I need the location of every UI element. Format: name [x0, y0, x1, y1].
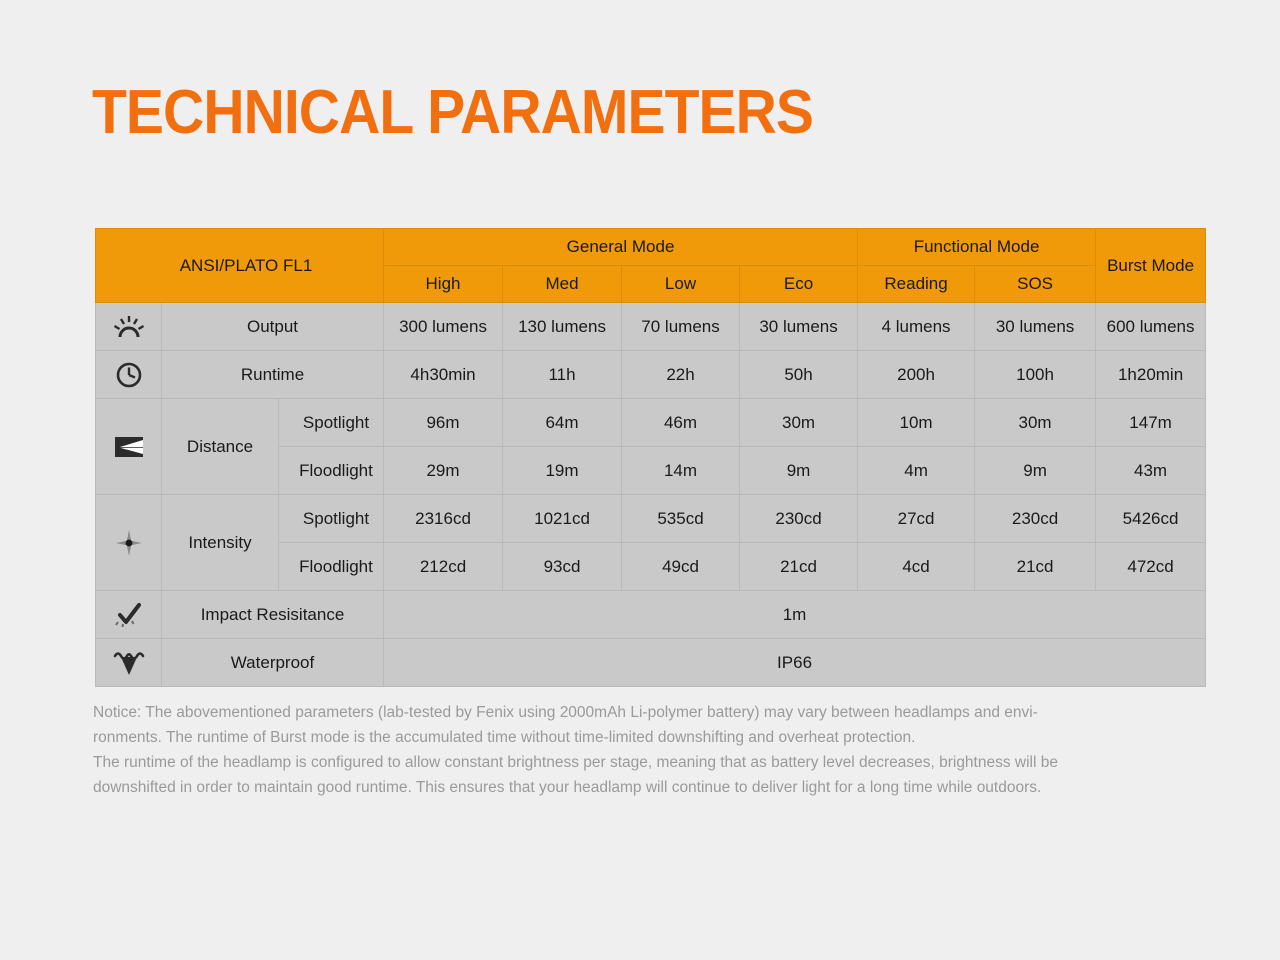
cell-distance-floodlight-reading: 4m — [858, 447, 975, 495]
cell-distance-floodlight-high: 29m — [384, 447, 503, 495]
sublabel-distance-spotlight: Spotlight — [279, 399, 384, 447]
cell-intensity-floodlight-low: 49cd — [622, 543, 740, 591]
row-label-impact-resistance: Impact Resisitance — [162, 591, 384, 639]
cell-runtime-low: 22h — [622, 351, 740, 399]
row-label-waterproof: Waterproof — [162, 639, 384, 687]
page-title: TECHNICAL PARAMETERS — [92, 82, 813, 144]
cell-runtime-burst: 1h20min — [1096, 351, 1206, 399]
cell-output-high: 300 lumens — [384, 303, 503, 351]
sublabel-distance-floodlight: Floodlight — [279, 447, 384, 495]
notice-line-3: The runtime of the headlamp is configure… — [93, 750, 1190, 775]
waterdrop-icon-cell — [96, 639, 162, 687]
cell-intensity-spotlight-burst: 5426cd — [1096, 495, 1206, 543]
sun-rays-icon — [96, 315, 161, 339]
cell-distance-spotlight-reading: 10m — [858, 399, 975, 447]
cell-output-med: 130 lumens — [503, 303, 622, 351]
cell-distance-floodlight-burst: 43m — [1096, 447, 1206, 495]
impact-check-icon-cell — [96, 591, 162, 639]
notice-line-4: downshifted in order to maintain good ru… — [93, 775, 1190, 800]
table-header-row-groups: ANSI/PLATO FL1 General Mode Functional M… — [96, 229, 1206, 266]
cell-impact-resistance-value: 1m — [384, 591, 1206, 639]
notice-line-1: Notice: The abovementioned parameters (l… — [93, 700, 1190, 725]
header-group-functional-mode: Functional Mode — [858, 229, 1096, 266]
table-row-waterproof: Waterproof IP66 — [96, 639, 1206, 687]
star-intensity-icon-cell — [96, 495, 162, 591]
table-row-output: Output 300 lumens 130 lumens 70 lumens 3… — [96, 303, 1206, 351]
table-row-distance-spotlight: Distance Spotlight 96m 64m 46m 30m 10m 3… — [96, 399, 1206, 447]
cell-intensity-floodlight-sos: 21cd — [975, 543, 1096, 591]
technical-parameters-page: TECHNICAL PARAMETERS ANSI/PLATO FL1 Gene… — [0, 0, 1280, 960]
cell-distance-floodlight-low: 14m — [622, 447, 740, 495]
table-row-impact-resistance: Impact Resisitance 1m — [96, 591, 1206, 639]
beam-distance-icon-cell — [96, 399, 162, 495]
specifications-table-container: ANSI/PLATO FL1 General Mode Functional M… — [95, 228, 1189, 687]
cell-output-eco: 30 lumens — [740, 303, 858, 351]
notice-block: Notice: The abovementioned parameters (l… — [93, 700, 1190, 800]
cell-runtime-sos: 100h — [975, 351, 1096, 399]
cell-distance-spotlight-burst: 147m — [1096, 399, 1206, 447]
waterdrop-icon — [96, 649, 161, 677]
star-intensity-icon — [96, 528, 161, 558]
cell-intensity-floodlight-reading: 4cd — [858, 543, 975, 591]
cell-intensity-spotlight-eco: 230cd — [740, 495, 858, 543]
cell-runtime-reading: 200h — [858, 351, 975, 399]
header-column-med: Med — [503, 266, 622, 303]
header-ansi-plato-label: ANSI/PLATO FL1 — [96, 229, 384, 303]
cell-distance-spotlight-med: 64m — [503, 399, 622, 447]
row-label-output: Output — [162, 303, 384, 351]
header-column-sos: SOS — [975, 266, 1096, 303]
cell-distance-floodlight-sos: 9m — [975, 447, 1096, 495]
cell-distance-spotlight-sos: 30m — [975, 399, 1096, 447]
row-label-distance: Distance — [162, 399, 279, 495]
impact-check-icon — [96, 602, 161, 628]
sublabel-intensity-floodlight: Floodlight — [279, 543, 384, 591]
cell-intensity-spotlight-reading: 27cd — [858, 495, 975, 543]
cell-distance-floodlight-eco: 9m — [740, 447, 858, 495]
cell-intensity-floodlight-burst: 472cd — [1096, 543, 1206, 591]
cell-distance-spotlight-eco: 30m — [740, 399, 858, 447]
notice-line-2: ronments. The runtime of Burst mode is t… — [93, 725, 1190, 750]
cell-runtime-med: 11h — [503, 351, 622, 399]
header-column-reading: Reading — [858, 266, 975, 303]
header-column-eco: Eco — [740, 266, 858, 303]
table-row-runtime: Runtime 4h30min 11h 22h 50h 200h 100h 1h… — [96, 351, 1206, 399]
header-column-low: Low — [622, 266, 740, 303]
clock-icon — [96, 361, 161, 389]
cell-intensity-floodlight-med: 93cd — [503, 543, 622, 591]
header-column-high: High — [384, 266, 503, 303]
sublabel-intensity-spotlight: Spotlight — [279, 495, 384, 543]
cell-output-low: 70 lumens — [622, 303, 740, 351]
cell-intensity-spotlight-med: 1021cd — [503, 495, 622, 543]
cell-output-burst: 600 lumens — [1096, 303, 1206, 351]
cell-runtime-high: 4h30min — [384, 351, 503, 399]
specifications-table: ANSI/PLATO FL1 General Mode Functional M… — [95, 228, 1206, 687]
cell-distance-floodlight-med: 19m — [503, 447, 622, 495]
clock-icon-cell — [96, 351, 162, 399]
cell-distance-spotlight-low: 46m — [622, 399, 740, 447]
header-column-burst-mode: Burst Mode — [1096, 229, 1206, 303]
cell-waterproof-value: IP66 — [384, 639, 1206, 687]
cell-intensity-spotlight-low: 535cd — [622, 495, 740, 543]
sun-rays-icon-cell — [96, 303, 162, 351]
cell-intensity-floodlight-high: 212cd — [384, 543, 503, 591]
cell-intensity-spotlight-sos: 230cd — [975, 495, 1096, 543]
cell-output-sos: 30 lumens — [975, 303, 1096, 351]
header-group-general-mode: General Mode — [384, 229, 858, 266]
beam-distance-icon — [96, 435, 161, 459]
cell-output-reading: 4 lumens — [858, 303, 975, 351]
cell-intensity-floodlight-eco: 21cd — [740, 543, 858, 591]
row-label-runtime: Runtime — [162, 351, 384, 399]
row-label-intensity: Intensity — [162, 495, 279, 591]
cell-distance-spotlight-high: 96m — [384, 399, 503, 447]
cell-runtime-eco: 50h — [740, 351, 858, 399]
cell-intensity-spotlight-high: 2316cd — [384, 495, 503, 543]
table-row-intensity-spotlight: Intensity Spotlight 2316cd 1021cd 535cd … — [96, 495, 1206, 543]
